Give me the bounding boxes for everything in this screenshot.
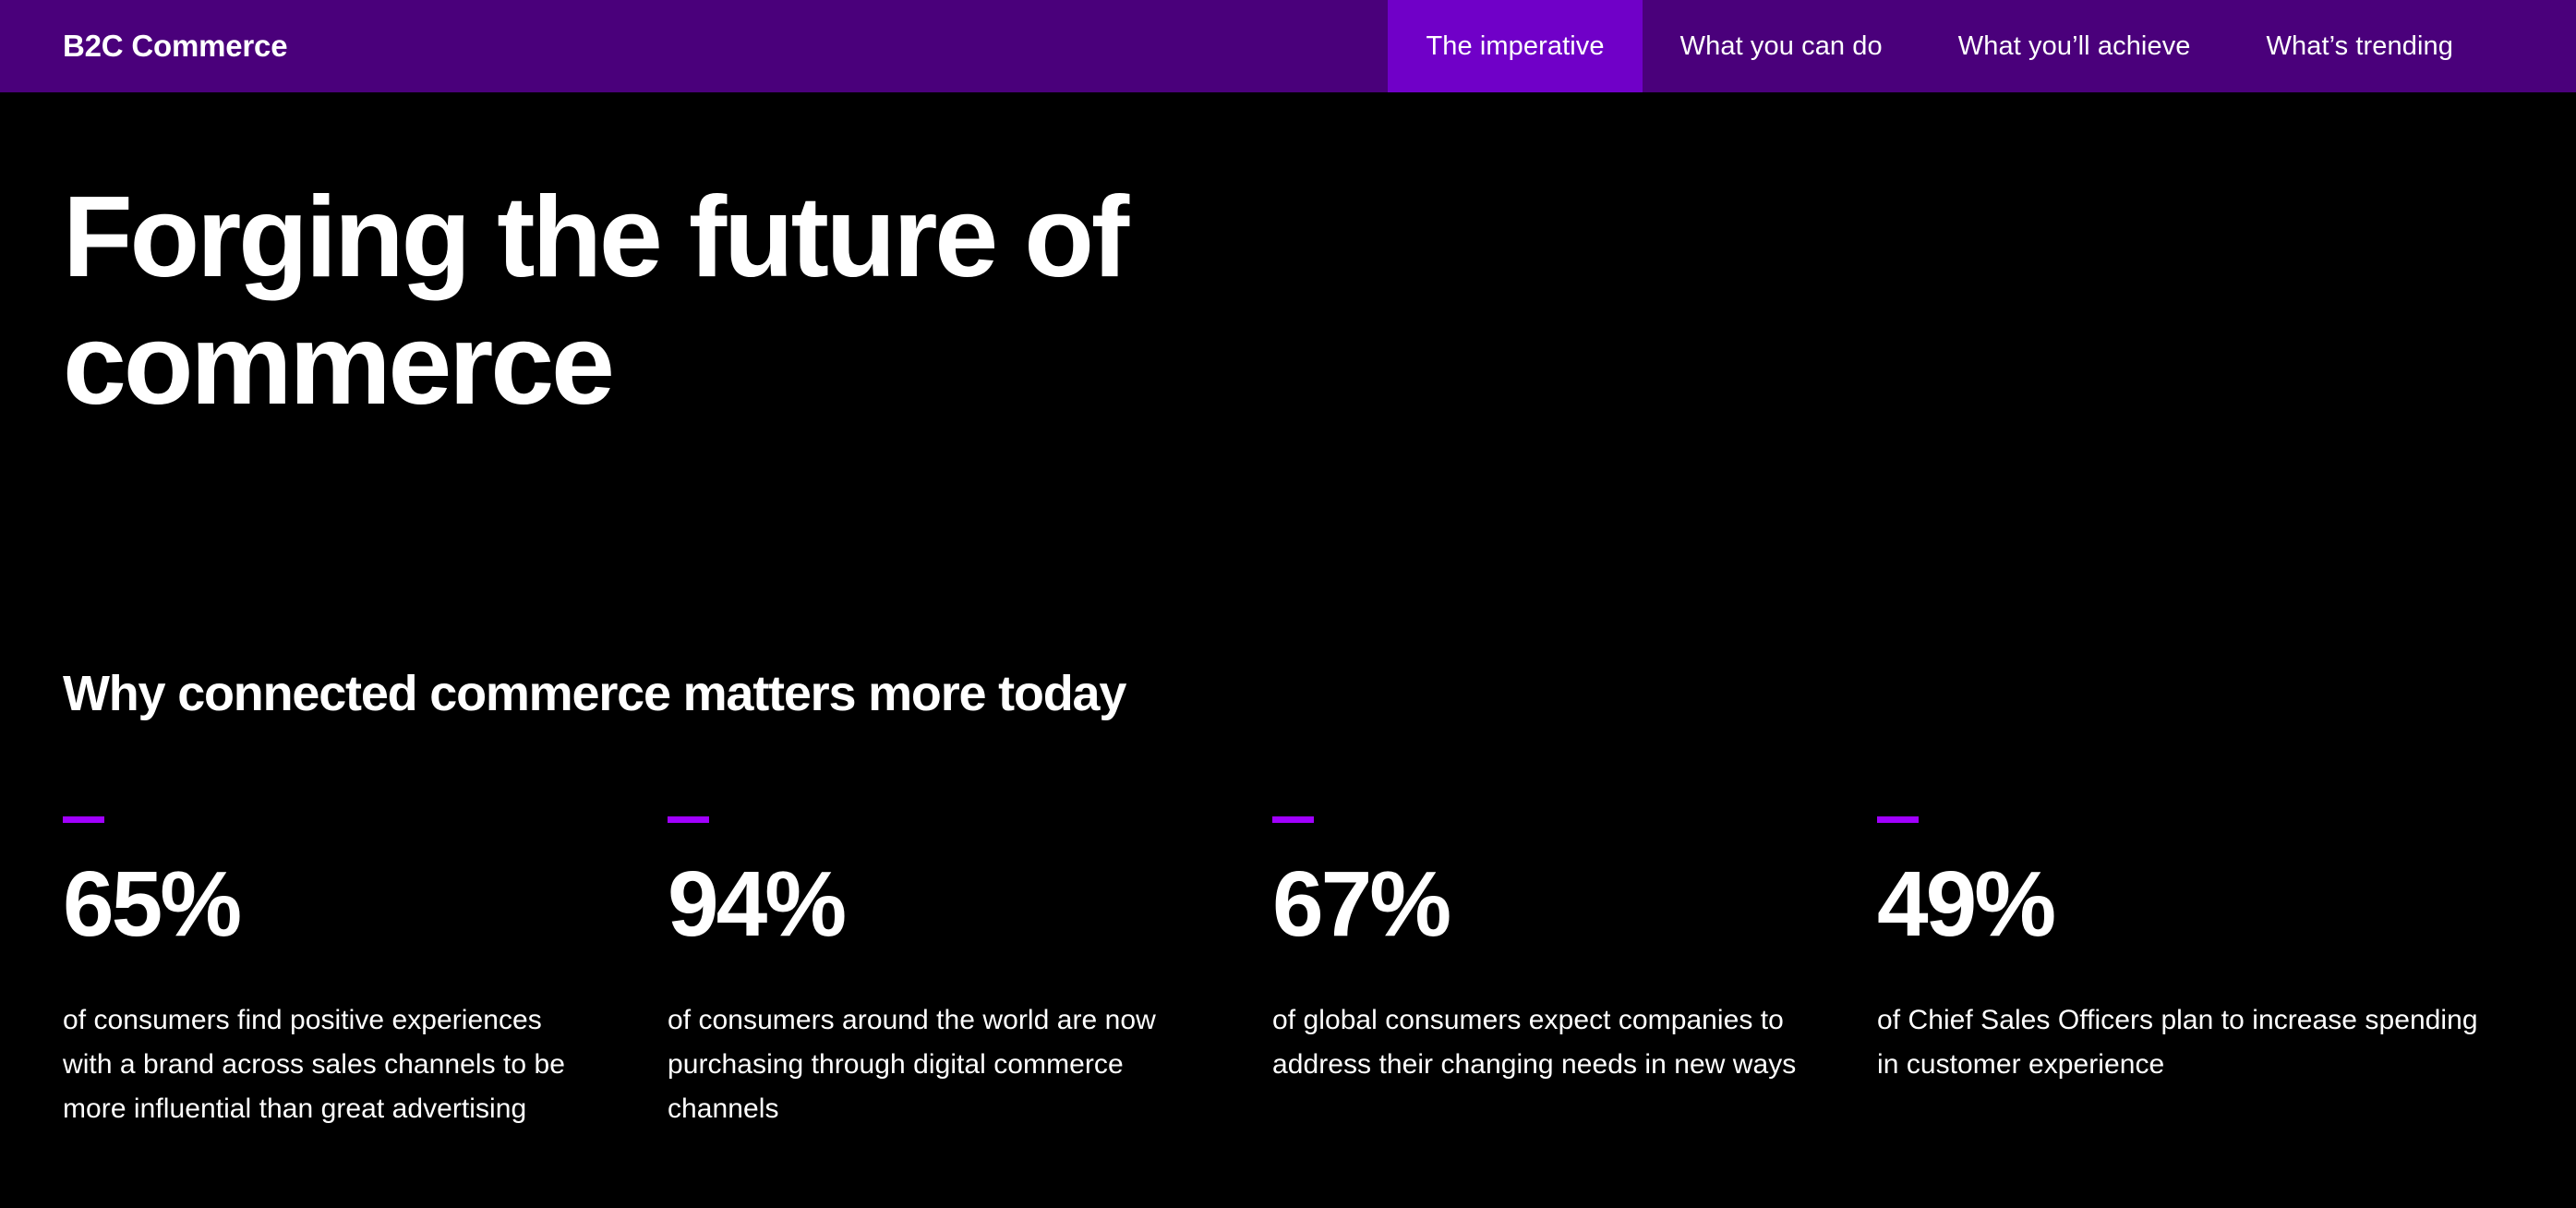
section-heading: Why connected commerce matters more toda… [63, 665, 1125, 722]
stat-card: 49% of Chief Sales Officers plan to incr… [1877, 816, 2482, 1087]
stat-value: 94% [668, 864, 1198, 945]
accent-rule-icon [1272, 816, 1314, 823]
stat-card: 65% of consumers find positive experienc… [63, 816, 668, 1131]
accent-rule-icon [1877, 816, 1919, 823]
accent-rule-icon [668, 816, 709, 823]
nav-item-what-you-can-do[interactable]: What you can do [1643, 0, 1920, 92]
hero-section: Forging the future of commerce [0, 92, 2576, 429]
nav-item-what-youll-achieve[interactable]: What you’ll achieve [1920, 0, 2229, 92]
site-header: B2C Commerce The imperative What you can… [0, 0, 2576, 92]
accent-rule-icon [63, 816, 104, 823]
stat-description: of consumers find positive experiences w… [63, 998, 594, 1131]
page-title: Forging the future of commerce [0, 92, 1293, 429]
stat-value: 67% [1272, 864, 1803, 945]
stat-description: of consumers around the world are now pu… [668, 998, 1198, 1131]
nav-item-whats-trending[interactable]: What’s trending [2229, 0, 2491, 92]
stat-value: 65% [63, 864, 594, 945]
stat-card: 94% of consumers around the world are no… [668, 816, 1272, 1131]
stat-value: 49% [1877, 864, 2482, 945]
nav-item-the-imperative[interactable]: The imperative [1388, 0, 1642, 92]
stat-description: of global consumers expect companies to … [1272, 998, 1803, 1087]
stat-description: of Chief Sales Officers plan to increase… [1877, 998, 2482, 1087]
stats-grid: 65% of consumers find positive experienc… [63, 816, 2546, 1131]
primary-nav: The imperative What you can do What you’… [1388, 0, 2576, 92]
brand-logo[interactable]: B2C Commerce [0, 0, 287, 92]
stat-card: 67% of global consumers expect companies… [1272, 816, 1877, 1087]
page-root: B2C Commerce The imperative What you can… [0, 0, 2576, 1208]
